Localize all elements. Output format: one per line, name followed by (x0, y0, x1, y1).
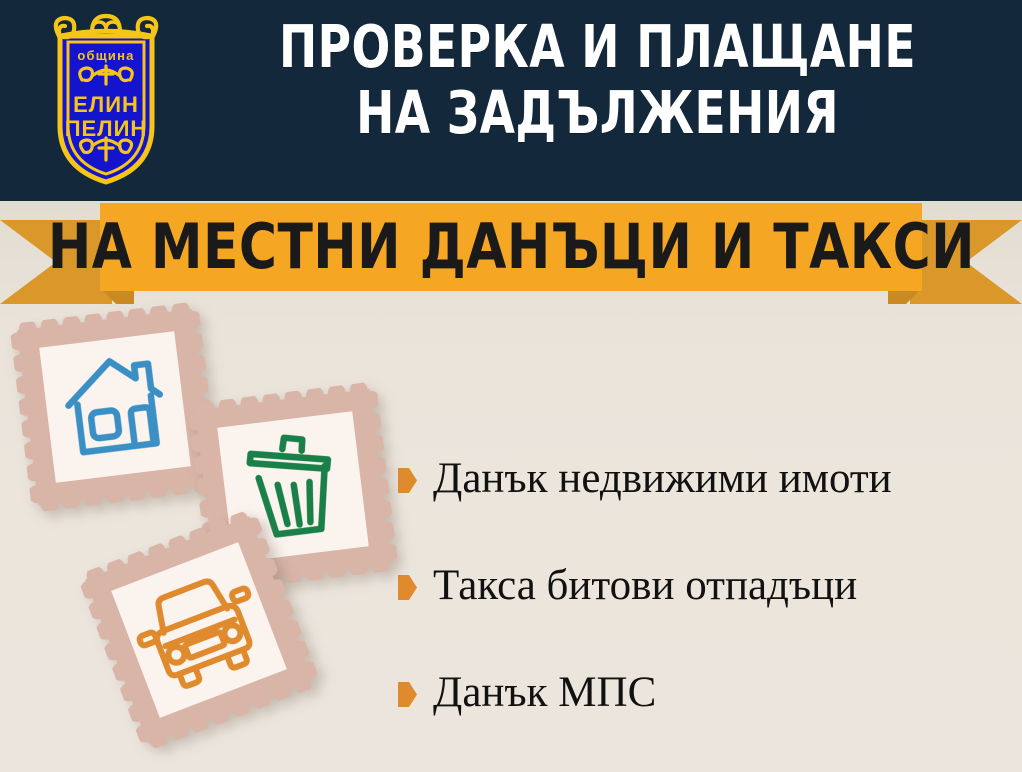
title-line-2: НА ЗАДЪЛЖЕНИЯ (247, 80, 948, 146)
header-bar: община ЕЛИН ПЕЛИН (0, 0, 1022, 201)
arrow-bullet-icon (398, 682, 417, 707)
tax-type-list: Данък недвижими имоти Такса битови отпад… (398, 425, 1010, 746)
crest-municipality-label: община (77, 48, 134, 63)
list-item-label: Такса битови отпадъци (433, 562, 857, 610)
list-item[interactable]: Данък МПС (398, 639, 1010, 746)
ribbon-banner: НА МЕСТНИ ДАНЪЦИ И ТАКСИ (100, 203, 922, 291)
list-item[interactable]: Данък недвижими имоти (398, 425, 1010, 532)
list-item-label: Данък МПС (433, 669, 656, 717)
crest-name-line1: ЕЛИН (73, 92, 139, 117)
arrow-bullet-icon (398, 575, 417, 600)
ribbon-label: НА МЕСТНИ ДАНЪЦИ И ТАКСИ (47, 216, 974, 278)
list-item[interactable]: Такса битови отпадъци (398, 532, 1010, 639)
list-item-label: Данък недвижими имоти (433, 455, 892, 503)
poster-root: община ЕЛИН ПЕЛИН (0, 0, 1022, 772)
poster-title: ПРОВЕРКА И ПЛАЩАНЕ НА ЗАДЪЛЖЕНИЯ (190, 14, 1005, 146)
title-line-1: ПРОВЕРКА И ПЛАЩАНЕ (247, 14, 948, 80)
arrow-bullet-icon (398, 468, 417, 493)
municipality-crest-logo: община ЕЛИН ПЕЛИН (30, 8, 182, 186)
subtitle-ribbon: НА МЕСТНИ ДАНЪЦИ И ТАКСИ (0, 196, 1022, 308)
